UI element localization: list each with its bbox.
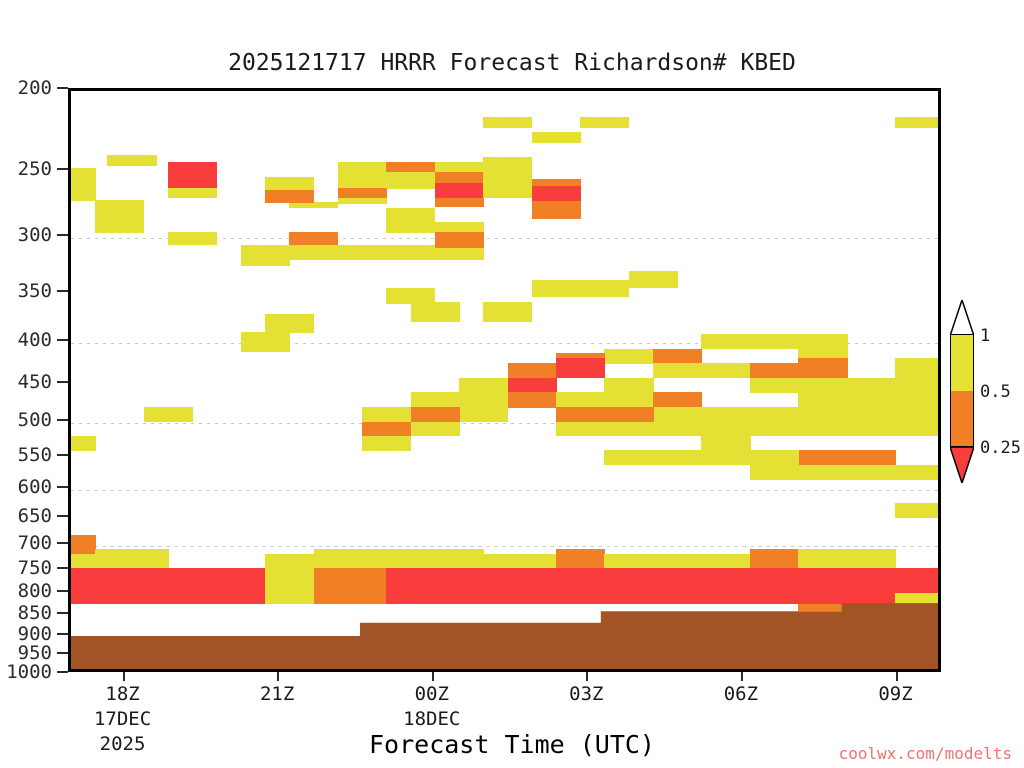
- x-tick-date: 18DEC: [403, 708, 460, 730]
- y-tick-mark: [57, 671, 68, 673]
- y-tick-mark: [57, 652, 68, 654]
- y-tick-mark: [57, 633, 68, 635]
- y-tick-mark: [57, 168, 68, 170]
- y-tick-mark: [57, 515, 68, 517]
- colorbar-tick-label: 0.5: [980, 382, 1011, 402]
- y-tick-mark: [57, 486, 68, 488]
- x-tick-mark: [896, 672, 898, 681]
- y-tick-mark: [57, 454, 68, 456]
- y-tick-mark: [57, 87, 68, 89]
- y-tick-label: 400: [18, 329, 52, 351]
- y-tick-mark: [57, 339, 68, 341]
- terrain-mask: [71, 91, 938, 669]
- y-tick-label: 850: [18, 602, 52, 624]
- chart-root: 2025121717 HRRR Forecast Richardson# KBE…: [0, 0, 1024, 768]
- x-tick-label: 03Z: [569, 683, 603, 705]
- x-tick-date: 17DEC: [94, 708, 151, 730]
- y-tick-mark: [57, 542, 68, 544]
- colorbar-under-arrow-icon: [950, 447, 974, 483]
- colorbar-legend: 10.50.25: [944, 300, 1024, 500]
- x-tick-mark: [432, 672, 434, 681]
- colorbar-body: [950, 334, 974, 447]
- y-tick-label: 450: [18, 371, 52, 393]
- y-tick-mark: [57, 419, 68, 421]
- y-tick-mark: [57, 612, 68, 614]
- colorbar-segment-yellow: [951, 335, 973, 391]
- y-tick-label: 750: [18, 557, 52, 579]
- x-tick-label: 18Z: [105, 683, 139, 705]
- y-tick-label: 500: [18, 409, 52, 431]
- y-tick-label: 550: [18, 444, 52, 466]
- y-tick-mark: [57, 234, 68, 236]
- colorbar-tick-label: 1: [980, 326, 990, 346]
- y-tick-label: 600: [18, 476, 52, 498]
- y-tick-label: 700: [18, 532, 52, 554]
- x-tick-label: 00Z: [415, 683, 449, 705]
- x-tick-mark: [741, 672, 743, 681]
- y-tick-label: 650: [18, 505, 52, 527]
- chart-title: 2025121717 HRRR Forecast Richardson# KBE…: [0, 50, 1024, 76]
- y-tick-label: 1000: [6, 661, 52, 683]
- y-tick-label: 300: [18, 224, 52, 246]
- x-tick-label: 21Z: [260, 683, 294, 705]
- y-tick-mark: [57, 381, 68, 383]
- x-tick-label: 09Z: [878, 683, 912, 705]
- y-tick-mark: [57, 290, 68, 292]
- plot-area: [68, 88, 941, 672]
- x-tick-mark: [586, 672, 588, 681]
- y-axis: 2002503003504004505005506006507007508008…: [0, 88, 68, 672]
- y-tick-label: 250: [18, 158, 52, 180]
- y-tick-label: 800: [18, 580, 52, 602]
- y-tick-label: 200: [18, 77, 52, 99]
- x-tick-label: 06Z: [724, 683, 758, 705]
- colorbar-over-arrow-icon: [950, 300, 974, 336]
- y-tick-mark: [57, 590, 68, 592]
- colorbar-segment-orange: [951, 391, 973, 447]
- y-tick-label: 350: [18, 280, 52, 302]
- x-tick-mark: [123, 672, 125, 681]
- x-tick-mark: [277, 672, 279, 681]
- watermark: coolwx.com/modelts: [839, 744, 1012, 763]
- colorbar-tick-label: 0.25: [980, 438, 1021, 458]
- y-tick-mark: [57, 567, 68, 569]
- terrain-polygon: [71, 91, 938, 669]
